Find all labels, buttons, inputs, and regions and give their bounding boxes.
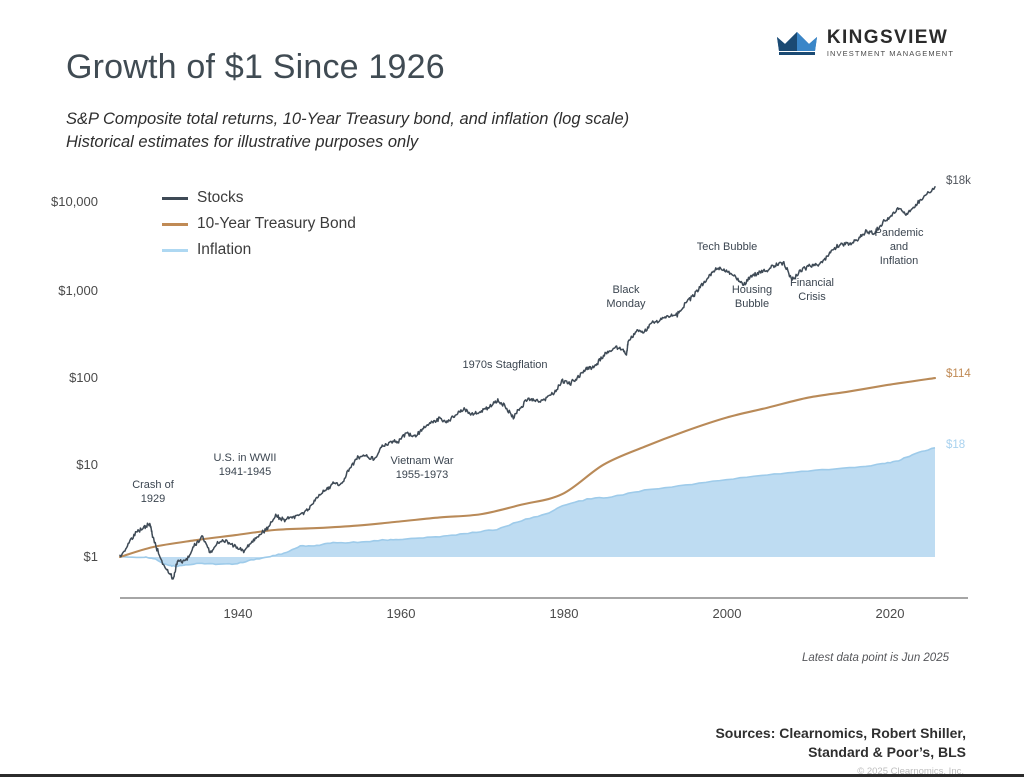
- x-tick-1980: 1980: [529, 606, 599, 621]
- annotation-crash-1929: Crash of1929: [78, 478, 228, 506]
- end-label-stocks: $18k: [946, 175, 971, 187]
- y-tick-100: $100: [28, 370, 98, 385]
- end-label-inflation: $18: [946, 439, 965, 451]
- annotation-wwii: U.S. in WWII1941-1945: [170, 451, 320, 479]
- annotation-vietnam-war: Vietnam War1955-1973: [347, 454, 497, 482]
- x-tick-1960: 1960: [366, 606, 436, 621]
- legend-label-inflation: Inflation: [197, 241, 251, 259]
- sources-line-2: Standard & Poor’s, BLS: [715, 743, 966, 762]
- y-tick-10: $10: [28, 457, 98, 472]
- legend-swatch-treasury: [162, 223, 188, 226]
- y-tick-10000: $10,000: [28, 194, 98, 209]
- chart-legend: Stocks 10-Year Treasury Bond Inflation: [162, 185, 356, 263]
- sources-line-1: Sources: Clearnomics, Robert Shiller,: [715, 724, 966, 743]
- legend-label-stocks: Stocks: [197, 189, 244, 207]
- annotation-tech-bubble: Tech Bubble: [652, 240, 802, 254]
- slide-canvas: KINGSVIEW INVESTMENT MANAGEMENT Growth o…: [0, 0, 1024, 777]
- x-tick-2020: 2020: [855, 606, 925, 621]
- annotation-financial-crisis: FinancialCrisis: [737, 276, 887, 304]
- legend-swatch-inflation: [162, 249, 188, 252]
- legend-label-treasury: 10-Year Treasury Bond: [197, 215, 356, 233]
- y-tick-1: $1: [28, 549, 98, 564]
- legend-item-inflation[interactable]: Inflation: [162, 237, 356, 263]
- legend-item-stocks[interactable]: Stocks: [162, 185, 356, 211]
- sources-note: Sources: Clearnomics, Robert Shiller, St…: [715, 724, 966, 762]
- x-tick-1940: 1940: [203, 606, 273, 621]
- end-label-treasury: $114: [946, 368, 971, 380]
- y-tick-1000: $1,000: [28, 283, 98, 298]
- annotation-pandemic-inflation: PandemicandInflation: [824, 226, 974, 268]
- x-tick-2000: 2000: [692, 606, 762, 621]
- legend-item-treasury[interactable]: 10-Year Treasury Bond: [162, 211, 356, 237]
- annotation-1970s-stagflation: 1970s Stagflation: [430, 358, 580, 372]
- legend-swatch-stocks: [162, 197, 188, 200]
- latest-data-note: Latest data point is Jun 2025: [802, 652, 949, 664]
